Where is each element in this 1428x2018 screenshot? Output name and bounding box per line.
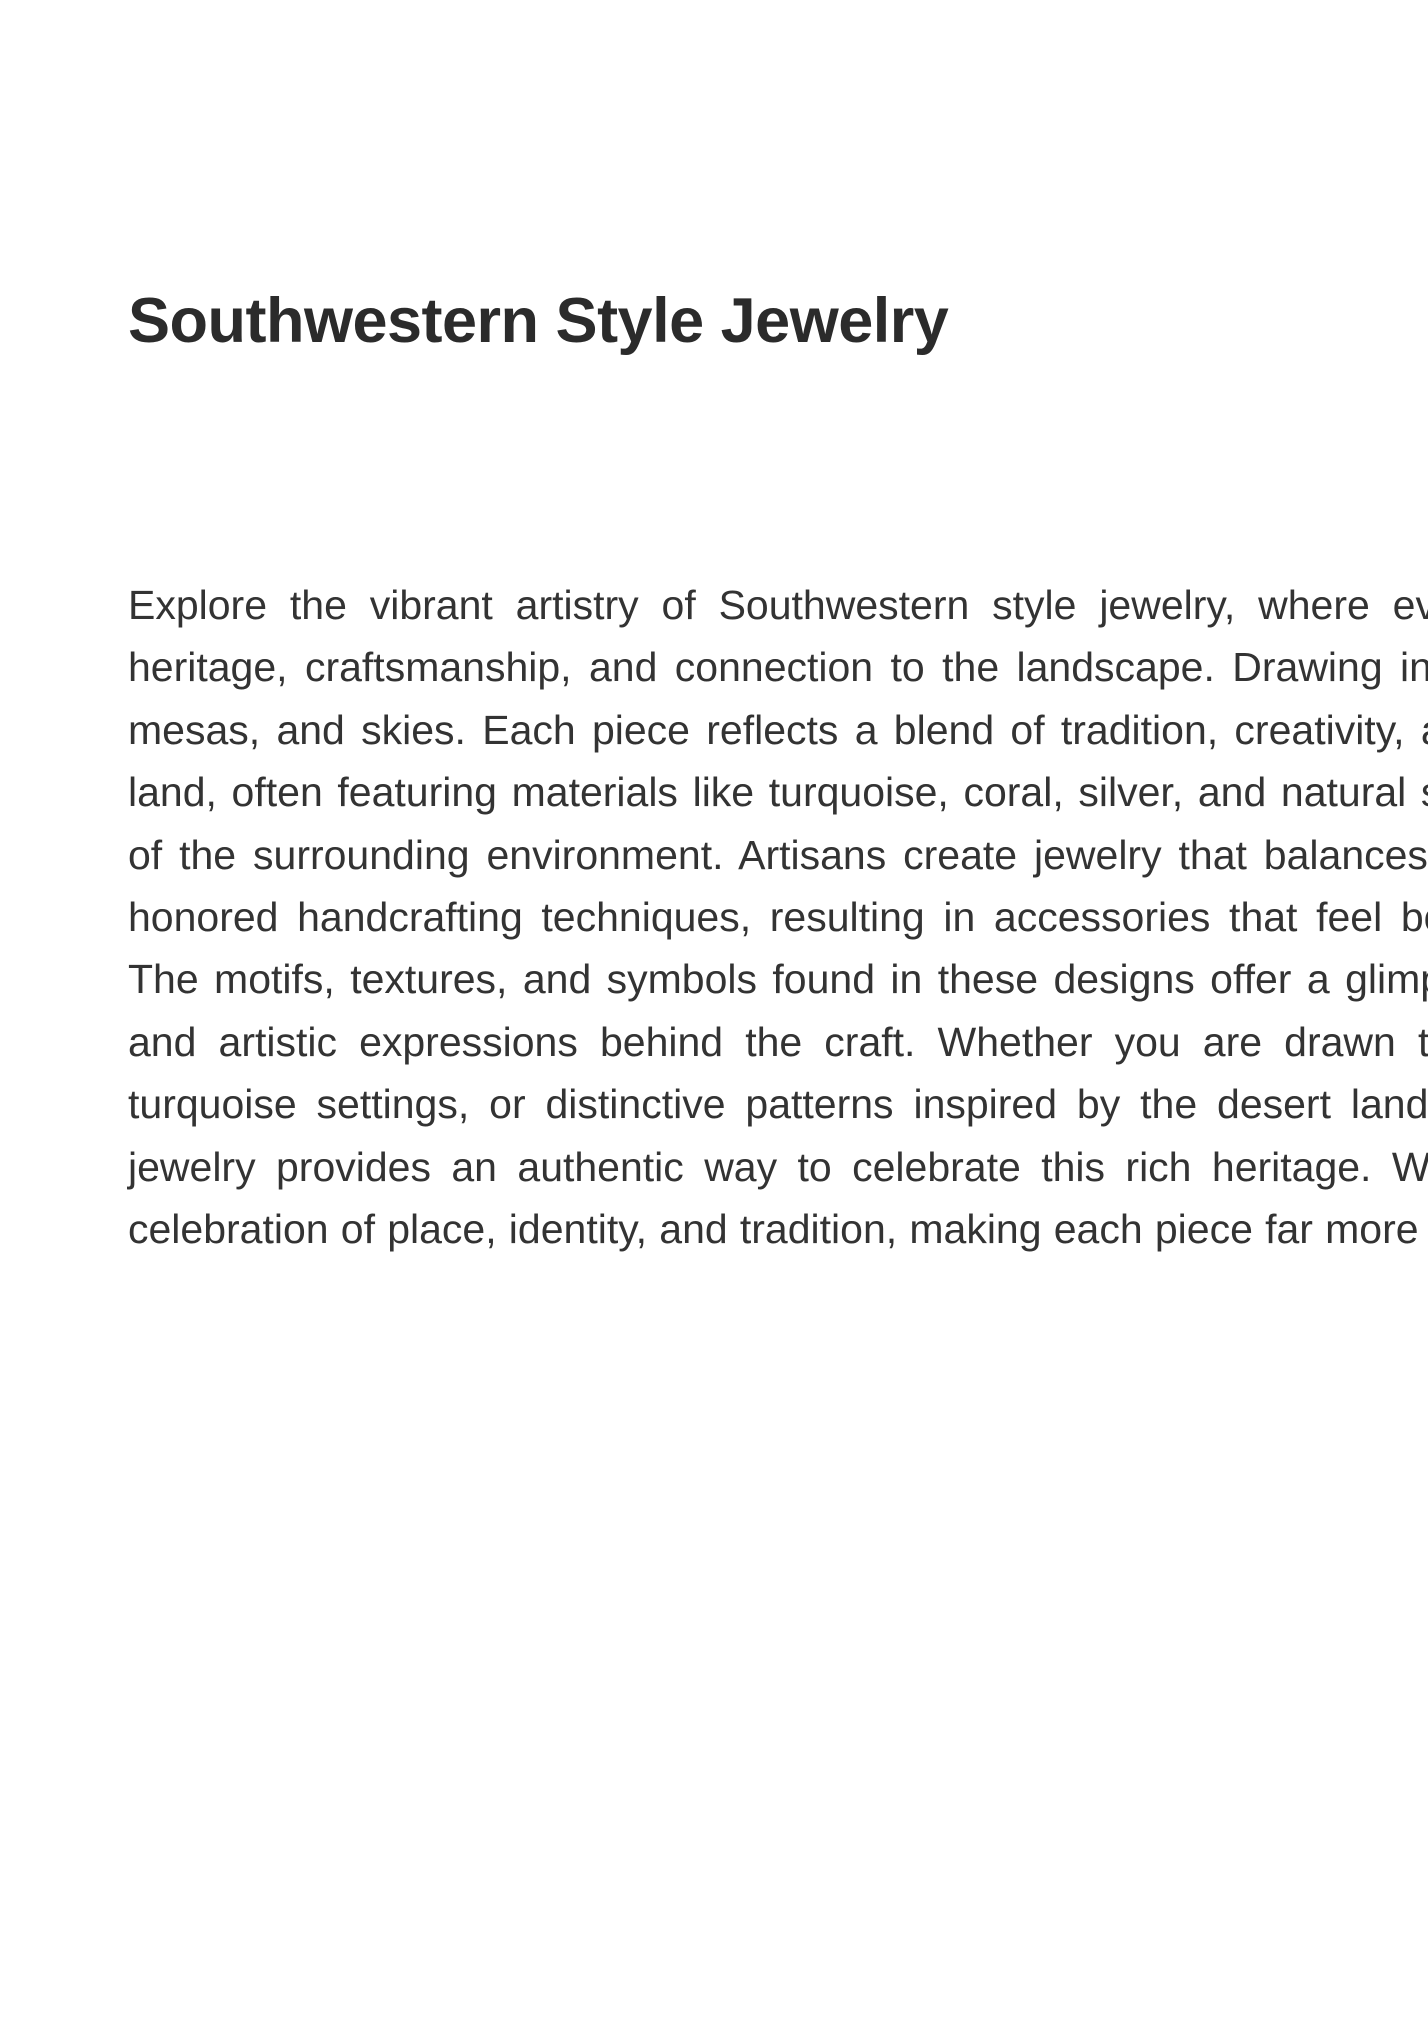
page-title: Southwestern Style Jewelry	[128, 282, 1428, 361]
article-body-paragraph: Explore the vibrant artistry of Southwes…	[128, 574, 1428, 1260]
page-root: Southwestern Style Jewelry Explore the v…	[0, 0, 1428, 2018]
